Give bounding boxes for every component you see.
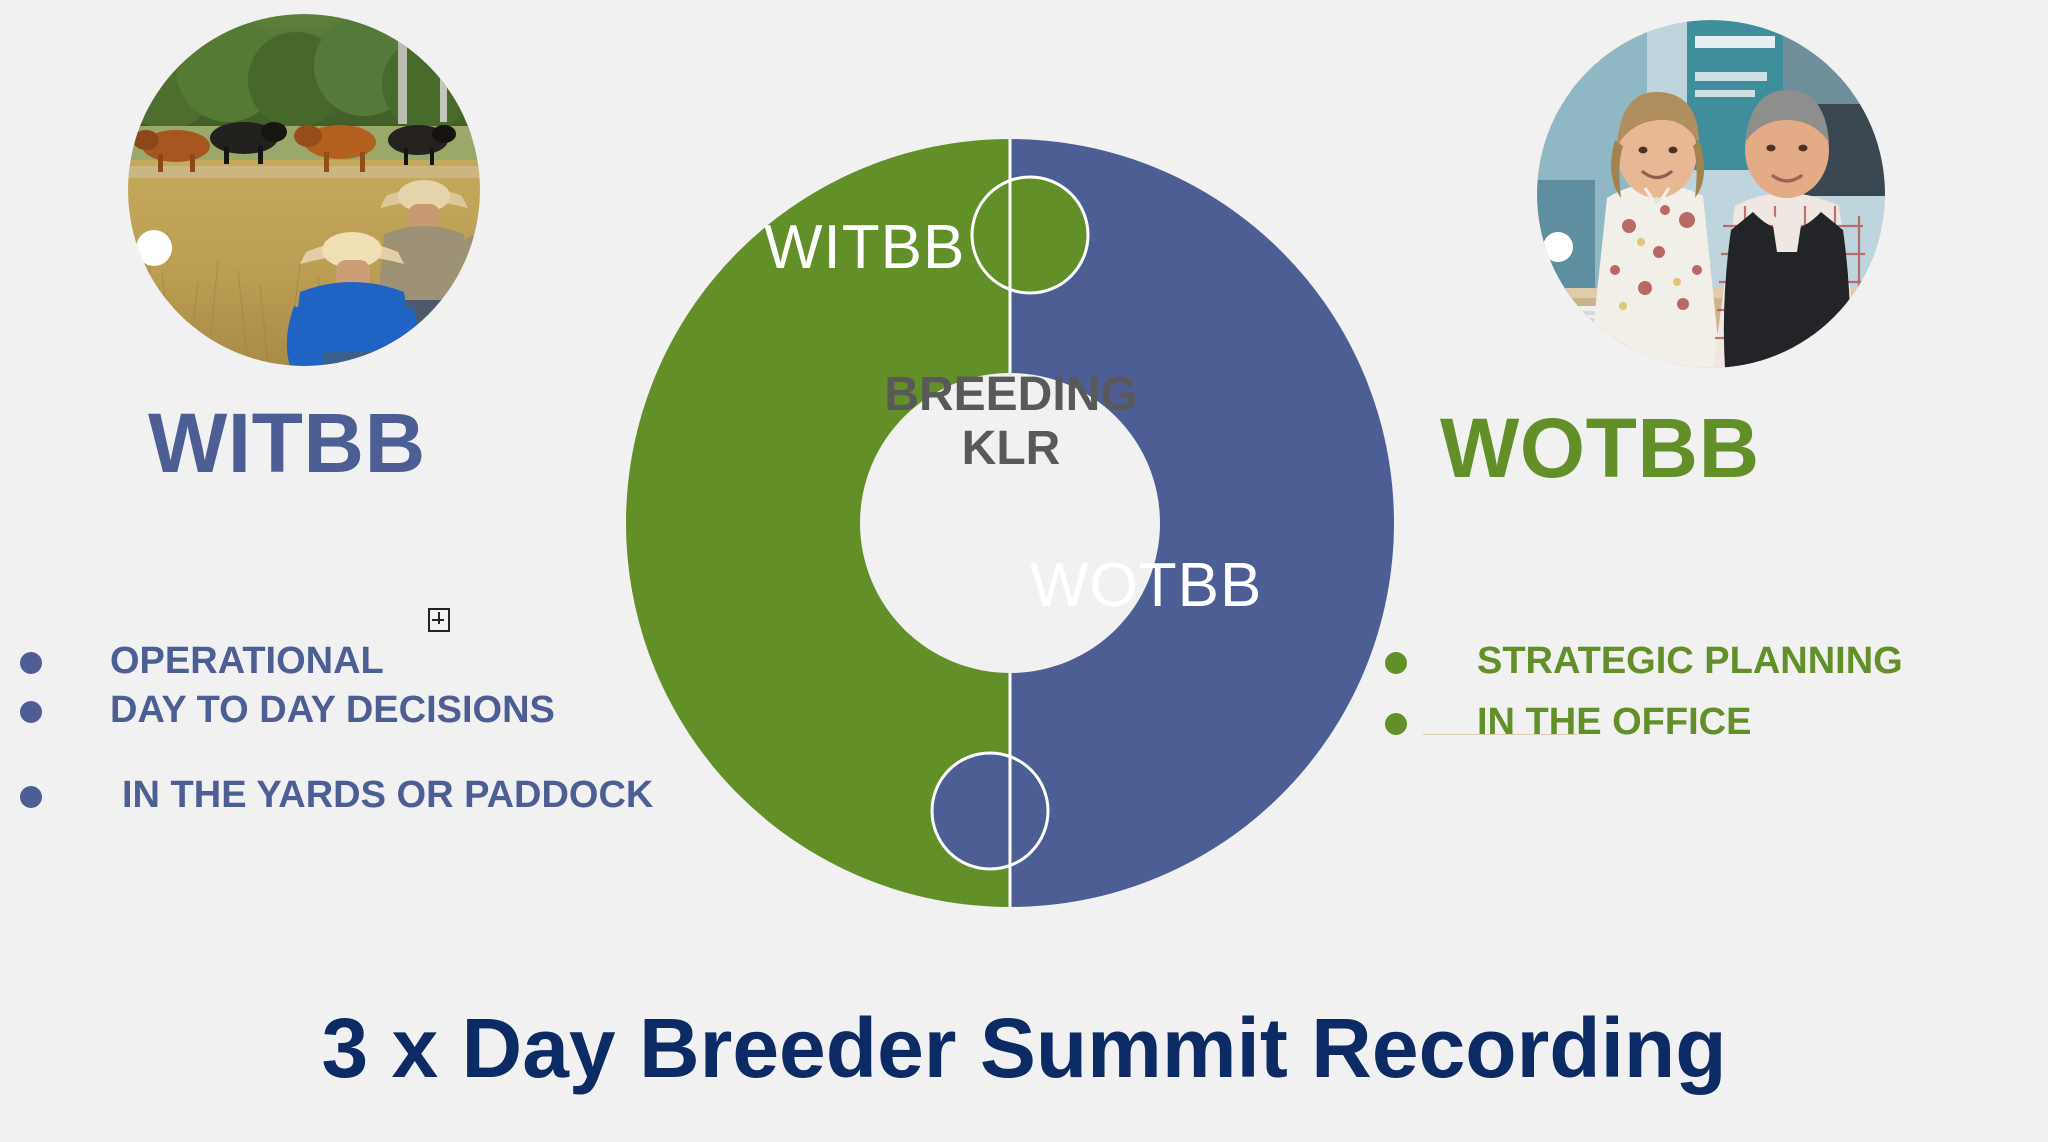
- arc-label-wotbb: WOTBB: [1030, 550, 1262, 621]
- bullet-dot-icon: [20, 786, 42, 808]
- list-item: STRATEGIC PLANNING: [1385, 640, 1903, 683]
- bullet-dot-icon: [20, 652, 42, 674]
- list-item-label: STRATEGIC PLANNING: [1477, 640, 1903, 683]
- bullet-dot-icon: [1385, 652, 1407, 674]
- center-label: BREEDING KLR: [866, 368, 1156, 476]
- right-bullet-list: STRATEGIC PLANNING IN THE OFFICE: [1385, 640, 1903, 762]
- left-paddock-photo: [128, 14, 480, 366]
- list-item: IN THE OFFICE: [1385, 701, 1903, 744]
- left-heading-witbb: WITBB: [148, 395, 426, 492]
- left-bullet-list: OPERATIONAL DAY TO DAY DECISIONS IN THE …: [20, 640, 653, 823]
- list-item: DAY TO DAY DECISIONS: [20, 689, 653, 732]
- right-heading-wotbb: WOTBB: [1440, 400, 1760, 497]
- center-label-line2: KLR: [866, 422, 1156, 476]
- arc-label-witbb: WITBB: [764, 212, 965, 283]
- footer-title: 3 x Day Breeder Summit Recording: [0, 1000, 2048, 1097]
- slide-canvas: WITBB WOTBB BREEDING KLR WITBB WOTBB OPE…: [0, 0, 2048, 1142]
- right-office-photo: [1537, 20, 1885, 368]
- bullet-dot-icon: [20, 701, 42, 723]
- list-item-label: OPERATIONAL: [110, 640, 384, 683]
- crosshair-handle-icon[interactable]: [428, 608, 450, 632]
- breeding-klr-puzzle-donut: [626, 139, 1394, 907]
- center-label-line1: BREEDING: [866, 368, 1156, 422]
- office-connector-line: [1423, 734, 1578, 735]
- list-item-label: IN THE YARDS OR PADDOCK: [122, 774, 653, 817]
- list-item: IN THE YARDS OR PADDOCK: [20, 774, 653, 817]
- list-item: OPERATIONAL: [20, 640, 653, 683]
- list-item-label: DAY TO DAY DECISIONS: [110, 689, 555, 732]
- list-item-label: IN THE OFFICE: [1477, 701, 1751, 744]
- bullet-dot-icon: [1385, 713, 1407, 735]
